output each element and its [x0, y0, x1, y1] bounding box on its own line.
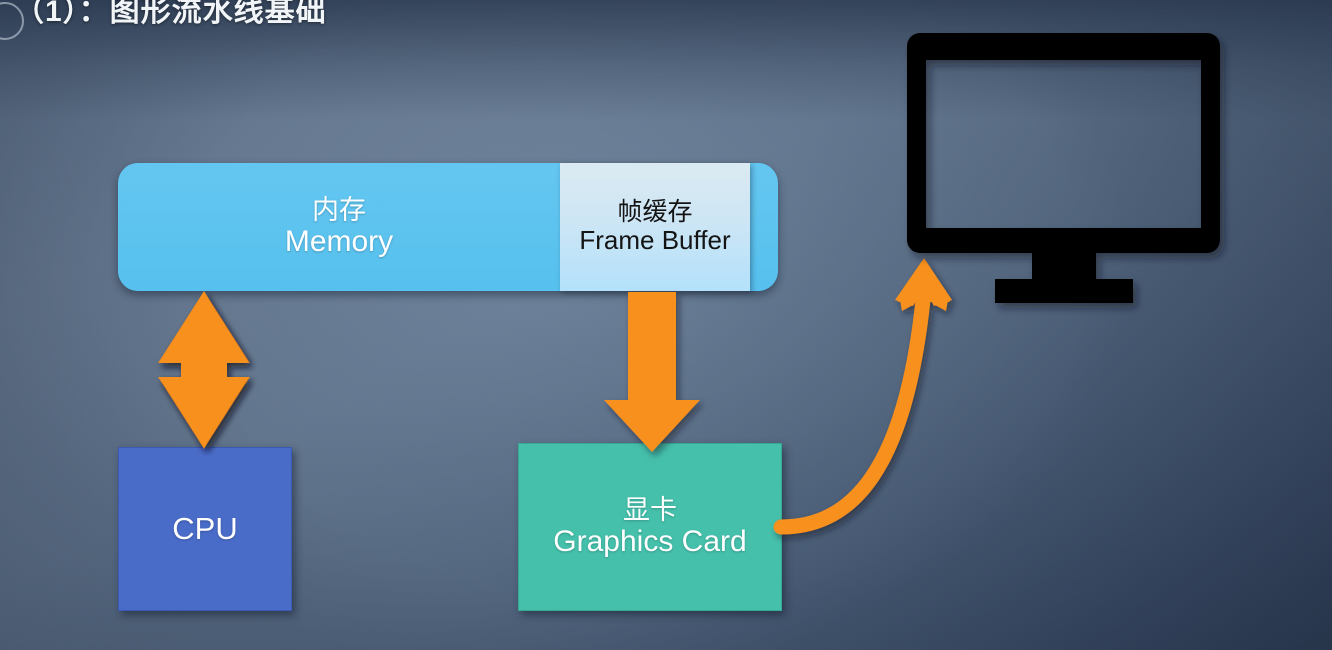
memory-label: 内存 Memory — [118, 163, 560, 291]
graphics-card-label-en: Graphics Card — [553, 525, 746, 558]
memory-label-cn: 内存 — [312, 195, 366, 225]
cpu-label: CPU — [172, 511, 237, 547]
page-title: （1）：图形流水线基础 — [14, 0, 327, 30]
frame-buffer-label-en: Frame Buffer — [579, 226, 730, 255]
frame-buffer-box: 帧缓存 Frame Buffer — [560, 163, 750, 291]
memory-label-en: Memory — [285, 225, 393, 259]
graphics-card-label-cn: 显卡 — [623, 496, 677, 526]
graphics-card-box: 显卡 Graphics Card — [518, 443, 782, 611]
frame-buffer-label-cn: 帧缓存 — [617, 198, 692, 226]
cpu-box: CPU — [118, 447, 292, 611]
slide-canvas: （1）：图形流水线基础 内存 Memory 帧缓存 Frame Buffer C… — [0, 0, 1332, 650]
